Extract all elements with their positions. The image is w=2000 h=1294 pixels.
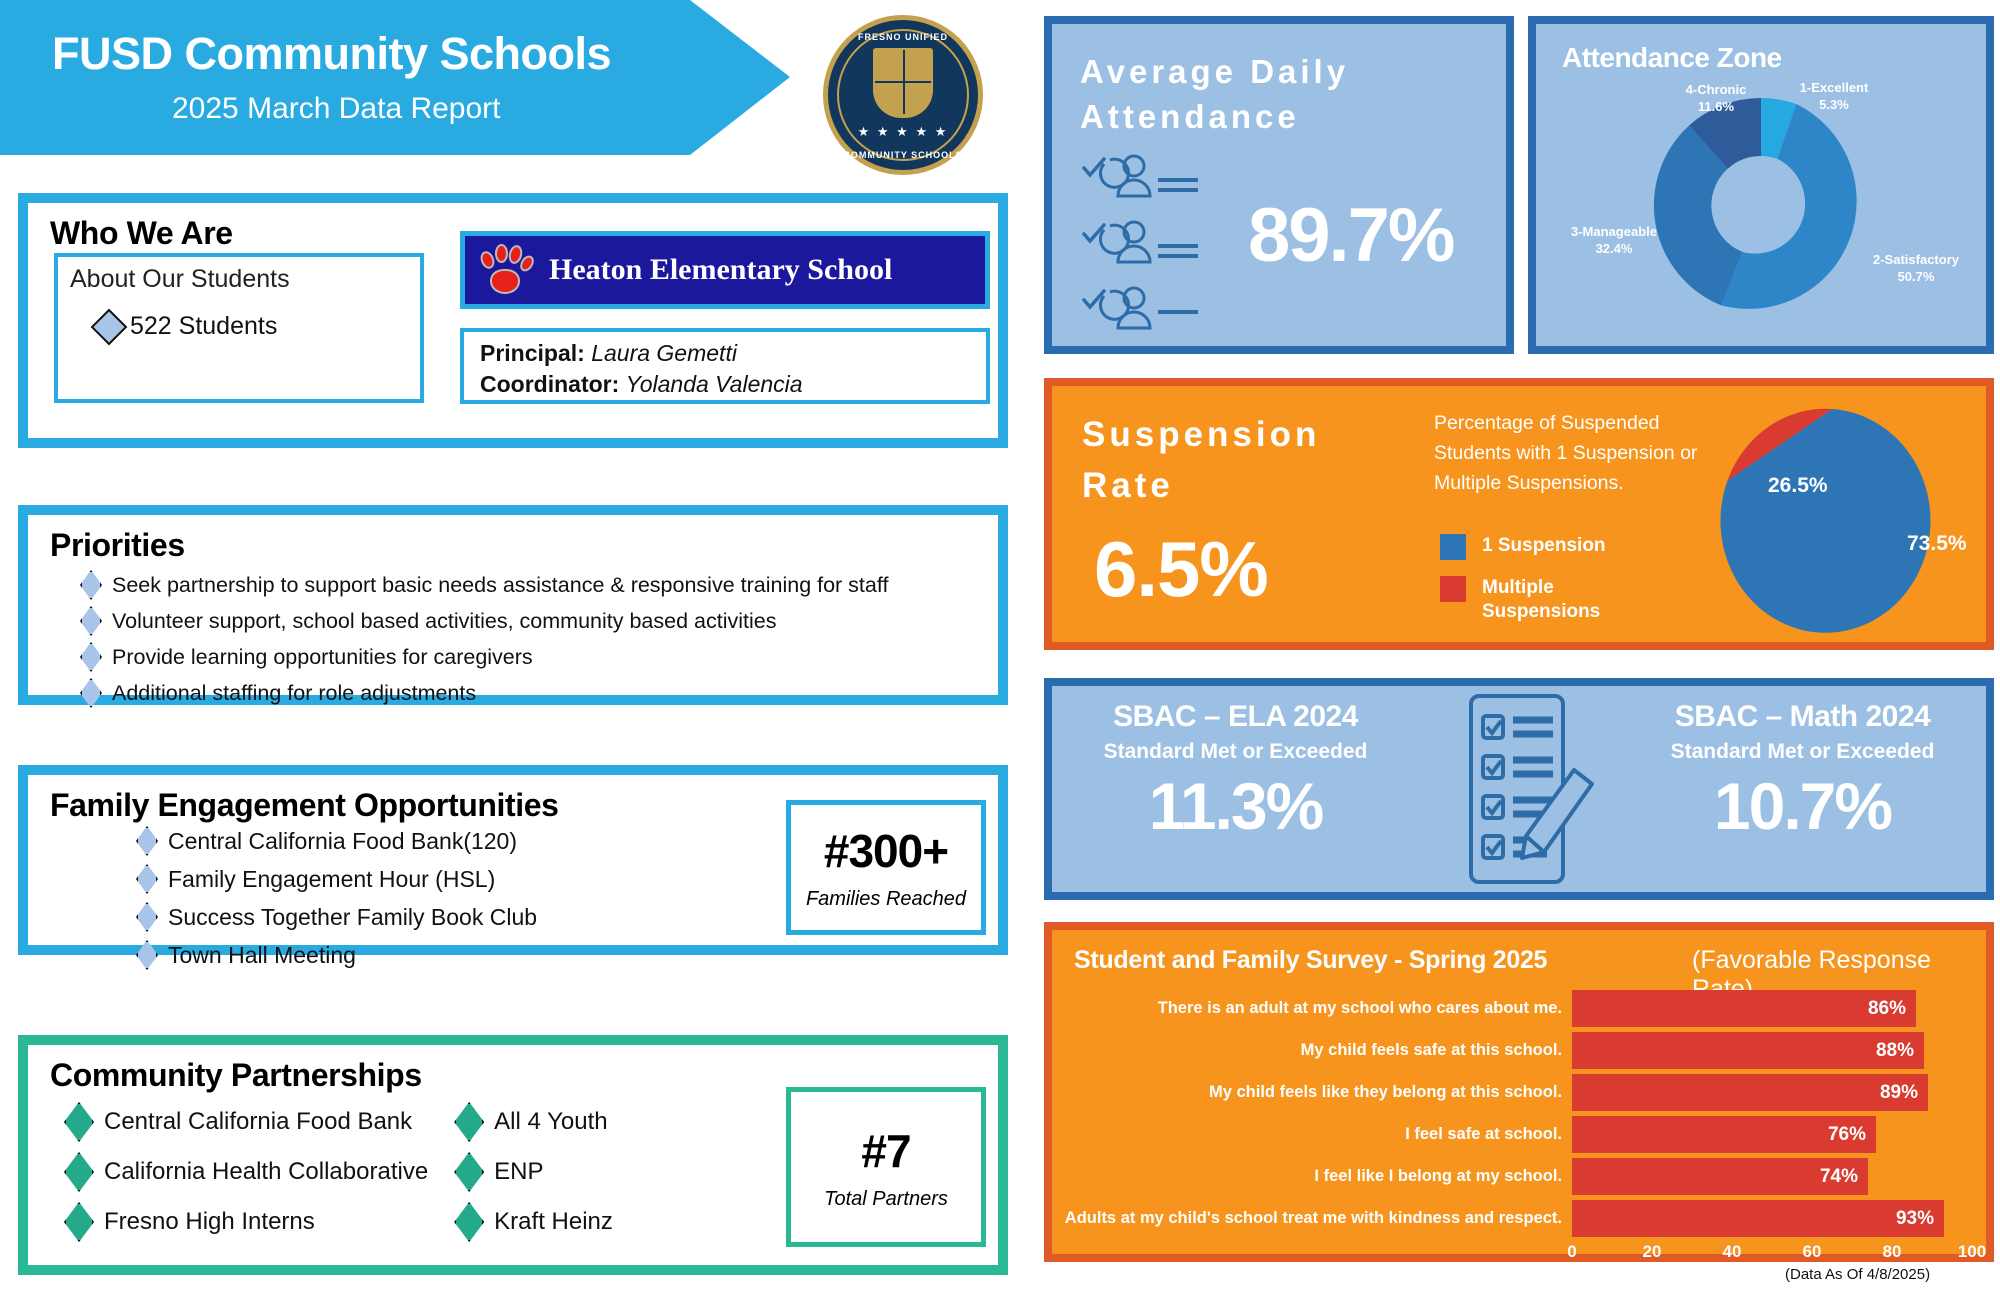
survey-row: My child feels safe at this school. 88% — [1052, 1032, 1986, 1069]
survey-bar-value: 88% — [1876, 1040, 1914, 1062]
survey-question-label: My child feels like they belong at this … — [1052, 1083, 1572, 1102]
survey-question-label: There is an adult at my school who cares… — [1052, 999, 1572, 1018]
diamond-bullet-icon — [80, 678, 102, 708]
suspension-title-line2: Rate — [1082, 461, 1320, 512]
survey-question-label: My child feels safe at this school. — [1052, 1041, 1572, 1060]
priority-text: Seek partnership to support basic needs … — [112, 573, 888, 598]
seal-bottom-text: COMMUNITY SCHOOLS — [828, 150, 978, 160]
partner-name: Fresno High Interns — [104, 1208, 315, 1236]
person-check-row — [1074, 220, 1204, 272]
suspension-rate-value: 6.5% — [1094, 524, 1268, 615]
survey-bar-chart: There is an adult at my school who cares… — [1052, 990, 1986, 1242]
list-item: All 4 Youth — [454, 1102, 613, 1142]
survey-bar: 86% — [1572, 990, 1916, 1027]
partner-name: Kraft Heinz — [494, 1208, 613, 1236]
list-item: Fresno High Interns — [64, 1202, 428, 1242]
diamond-bullet-icon — [64, 1152, 94, 1192]
suspension-title-line1: Suspension — [1082, 410, 1320, 461]
page-title: FUSD Community Schools — [52, 28, 611, 80]
survey-question-label: I feel like I belong at my school. — [1052, 1167, 1572, 1186]
student-count-value: 522 Students — [130, 312, 277, 341]
zone-label-satisfactory-name: 2-Satisfactory — [1846, 252, 1986, 269]
coordinator-name: Yolanda Valencia — [626, 371, 803, 397]
person-check-row — [1074, 154, 1204, 206]
priority-text: Volunteer support, school based activiti… — [112, 609, 776, 634]
zone-label-manageable-value: 32.4% — [1544, 241, 1684, 258]
zone-label-manageable: 3-Manageable 32.4% — [1544, 224, 1684, 258]
ada-value: 89.7% — [1248, 192, 1454, 279]
survey-bar: 89% — [1572, 1074, 1928, 1111]
diamond-bullet-icon — [91, 308, 128, 345]
seal-shield-icon — [873, 48, 933, 118]
survey-bar-track: 89% — [1572, 1074, 1972, 1111]
zone-label-chronic-name: 4-Chronic — [1656, 82, 1776, 99]
student-family-survey-panel: Student and Family Survey - Spring 2025 … — [1044, 922, 1994, 1262]
partners-column-2: All 4 Youth ENP Kraft Heinz — [454, 1102, 613, 1252]
survey-row: Adults at my child's school treat me wit… — [1052, 1200, 1986, 1237]
ada-title-line1: Average Daily — [1080, 50, 1349, 95]
who-we-are-panel: Who We Are About Our Students 522 Studen… — [18, 193, 1008, 448]
axis-tick: 20 — [1643, 1242, 1662, 1262]
diamond-bullet-icon — [454, 1102, 484, 1142]
check-person-icon — [1074, 220, 1204, 272]
suspension-pie-chart — [1712, 406, 1952, 636]
diamond-bullet-icon — [136, 902, 158, 932]
family-event-text: Family Engagement Hour (HSL) — [168, 866, 495, 893]
attendance-checklist-icons — [1074, 154, 1204, 352]
list-item: California Health Collaborative — [64, 1152, 428, 1192]
partner-name: Central California Food Bank — [104, 1108, 412, 1136]
about-our-students-label: About Our Students — [58, 257, 420, 294]
total-partners-label: Total Partners — [824, 1188, 948, 1211]
check-person-icon — [1074, 154, 1204, 206]
survey-bar-value: 93% — [1896, 1208, 1934, 1230]
sbac-math-value: 10.7% — [1619, 768, 1986, 844]
survey-row: I feel like I belong at my school. 74% — [1052, 1158, 1986, 1195]
check-person-icon — [1074, 286, 1204, 338]
survey-bar: 74% — [1572, 1158, 1868, 1195]
list-item: Volunteer support, school based activiti… — [80, 606, 998, 636]
diamond-bullet-icon — [136, 940, 158, 970]
survey-question-label: Adults at my child's school treat me wit… — [1052, 1209, 1572, 1228]
legend-swatch-red — [1440, 576, 1466, 602]
survey-title: Student and Family Survey - Spring 2025 — [1074, 946, 1547, 975]
legend-swatch-blue — [1440, 534, 1466, 560]
axis-tick: 0 — [1567, 1242, 1576, 1262]
families-reached-number: #300+ — [824, 824, 948, 878]
survey-bar: 76% — [1572, 1116, 1876, 1153]
family-engagement-panel: Family Engagement Opportunities Central … — [18, 765, 1008, 955]
data-as-of-footnote: (Data As Of 4/8/2025) — [1785, 1266, 1930, 1283]
school-name: Heaton Elementary School — [549, 253, 892, 287]
zone-label-excellent-name: 1-Excellent — [1774, 80, 1894, 97]
sbac-math-subtitle: Standard Met or Exceeded — [1619, 740, 1986, 764]
list-item: Seek partnership to support basic needs … — [80, 570, 998, 600]
priority-text: Provide learning opportunities for careg… — [112, 645, 533, 670]
sbac-ela-subtitle: Standard Met or Exceeded — [1052, 740, 1419, 764]
priorities-list: Seek partnership to support basic needs … — [28, 564, 998, 708]
coordinator-label: Coordinator: — [480, 371, 619, 397]
list-item: ENP — [454, 1152, 613, 1192]
ada-title-line2: Attendance — [1080, 95, 1349, 140]
list-item: Provide learning opportunities for careg… — [80, 642, 998, 672]
seal-stars-icon: ★ ★ ★ ★ ★ — [828, 124, 978, 140]
average-daily-attendance-panel: Average Daily Attendance — [1044, 16, 1514, 354]
axis-tick: 40 — [1723, 1242, 1742, 1262]
priority-text: Additional staffing for role adjustments — [112, 681, 476, 706]
suspension-legend: 1 Suspension Multiple Suspensions — [1440, 534, 1606, 640]
staff-info-box: Principal: Laura Gemetti Coordinator: Yo… — [460, 328, 990, 404]
infographic-page: FUSD Community Schools 2025 March Data R… — [0, 0, 2000, 1294]
zone-label-chronic: 4-Chronic 11.6% — [1656, 82, 1776, 116]
priorities-panel: Priorities Seek partnership to support b… — [18, 505, 1008, 705]
survey-row: I feel safe at school. 76% — [1052, 1116, 1986, 1153]
sbac-ela-block: SBAC – ELA 2024 Standard Met or Exceeded… — [1052, 686, 1419, 892]
zone-label-satisfactory-value: 50.7% — [1846, 269, 1986, 286]
families-reached-label: Families Reached — [806, 888, 966, 911]
diamond-bullet-icon — [136, 864, 158, 894]
paw-print-icon — [479, 243, 533, 297]
diamond-bullet-icon — [80, 570, 102, 600]
zone-label-manageable-name: 3-Manageable — [1544, 224, 1684, 241]
survey-bar-track: 93% — [1572, 1200, 1972, 1237]
suspension-rate-panel: Suspension Rate 6.5% Percentage of Suspe… — [1044, 378, 1994, 650]
zone-label-chronic-value: 11.6% — [1656, 99, 1776, 116]
seal-top-text: FRESNO UNIFIED — [828, 32, 978, 42]
page-subtitle: 2025 March Data Report — [172, 92, 501, 126]
sbac-panel: SBAC – ELA 2024 Standard Met or Exceeded… — [1044, 678, 1994, 900]
report-header: FUSD Community Schools 2025 March Data R… — [0, 0, 1010, 155]
list-item: Town Hall Meeting — [136, 940, 998, 970]
diamond-bullet-icon — [80, 642, 102, 672]
suspension-title: Suspension Rate — [1082, 410, 1320, 512]
diamond-bullet-icon — [64, 1102, 94, 1142]
total-partners-number: #7 — [861, 1124, 910, 1178]
suspension-description: Percentage of Suspended Students with 1 … — [1434, 408, 1714, 499]
survey-bar-value: 89% — [1880, 1082, 1918, 1104]
sbac-ela-value: 11.3% — [1052, 768, 1419, 844]
survey-bar-value: 76% — [1828, 1124, 1866, 1146]
zone-label-satisfactory: 2-Satisfactory 50.7% — [1846, 252, 1986, 286]
legend-label-one-suspension: 1 Suspension — [1482, 534, 1606, 558]
person-check-row — [1074, 286, 1204, 338]
attendance-zone-panel: Attendance Zone 4-Chronic 11.6% 1-E — [1528, 16, 1994, 354]
sbac-clipboard-icon-wrap — [1419, 686, 1619, 892]
checklist-pencil-icon — [1419, 690, 1619, 890]
legend-item-multiple-suspensions: Multiple Suspensions — [1440, 576, 1606, 624]
zone-label-excellent: 1-Excellent 5.3% — [1774, 80, 1894, 114]
diamond-bullet-icon — [80, 606, 102, 636]
survey-bar-track: 88% — [1572, 1032, 1972, 1069]
diamond-bullet-icon — [454, 1152, 484, 1192]
survey-bar: 88% — [1572, 1032, 1924, 1069]
sbac-math-block: SBAC – Math 2024 Standard Met or Exceede… — [1619, 686, 1986, 892]
legend-item-one-suspension: 1 Suspension — [1440, 534, 1606, 560]
survey-question-label: I feel safe at school. — [1052, 1125, 1572, 1144]
diamond-bullet-icon — [64, 1202, 94, 1242]
school-name-banner: Heaton Elementary School — [460, 231, 990, 309]
list-item: Kraft Heinz — [454, 1202, 613, 1242]
partner-name: All 4 Youth — [494, 1108, 607, 1136]
fusd-seal-logo: FRESNO UNIFIED ★ ★ ★ ★ ★ COMMUNITY SCHOO… — [823, 15, 983, 175]
diamond-bullet-icon — [454, 1202, 484, 1242]
axis-tick: 60 — [1803, 1242, 1822, 1262]
survey-bar-value: 86% — [1868, 998, 1906, 1020]
sbac-ela-title: SBAC – ELA 2024 — [1052, 700, 1419, 734]
coordinator-row: Coordinator: Yolanda Valencia — [480, 369, 986, 400]
list-item: Central California Food Bank — [64, 1102, 428, 1142]
principal-label: Principal: — [480, 340, 585, 366]
list-item: Additional staffing for role adjustments — [80, 678, 998, 708]
diamond-bullet-icon — [136, 826, 158, 856]
community-partnerships-panel: Community Partnerships Central Californi… — [18, 1035, 1008, 1275]
ada-title: Average Daily Attendance — [1080, 50, 1349, 139]
attendance-zone-title: Attendance Zone — [1562, 42, 1782, 74]
sbac-math-title: SBAC – Math 2024 — [1619, 700, 1986, 734]
survey-bar-track: 86% — [1572, 990, 1972, 1027]
survey-row: My child feels like they belong at this … — [1052, 1074, 1986, 1111]
legend-label-multiple-suspensions: Multiple Suspensions — [1482, 576, 1602, 624]
total-partners-stat: #7 Total Partners — [786, 1087, 986, 1247]
partner-name: California Health Collaborative — [104, 1158, 428, 1186]
partners-column-1: Central California Food Bank California … — [64, 1102, 428, 1252]
pie-label-multiple: 26.5% — [1768, 474, 1828, 498]
axis-tick: 80 — [1883, 1242, 1902, 1262]
family-event-text: Success Together Family Book Club — [168, 904, 537, 931]
family-event-text: Central California Food Bank(120) — [168, 828, 517, 855]
partner-name: ENP — [494, 1158, 543, 1186]
survey-bar-track: 76% — [1572, 1116, 1972, 1153]
priorities-title: Priorities — [28, 515, 998, 564]
survey-bar-value: 74% — [1820, 1166, 1858, 1188]
family-event-text: Town Hall Meeting — [168, 942, 356, 969]
student-count-row: 522 Students — [58, 294, 420, 341]
families-reached-stat: #300+ Families Reached — [786, 800, 986, 935]
principal-row: Principal: Laura Gemetti — [480, 338, 986, 369]
axis-tick: 100 — [1958, 1242, 1986, 1262]
principal-name: Laura Gemetti — [591, 340, 737, 366]
survey-row: There is an adult at my school who cares… — [1052, 990, 1986, 1027]
zone-label-excellent-value: 5.3% — [1774, 97, 1894, 114]
about-our-students-box: About Our Students 522 Students — [54, 253, 424, 403]
pie-label-one: 73.5% — [1907, 532, 1967, 556]
survey-bar-track: 74% — [1572, 1158, 1972, 1195]
survey-bar: 93% — [1572, 1200, 1944, 1237]
